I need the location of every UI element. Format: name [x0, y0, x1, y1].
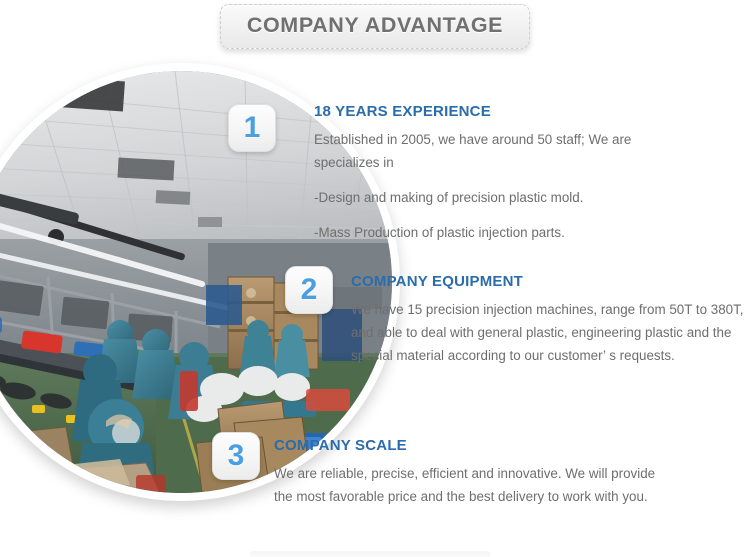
step-number-2: 2 [301, 275, 318, 305]
advantage-paragraph-1-3: -Mass Production of plastic injection pa… [314, 221, 664, 244]
advantage-paragraph-1-2: -Design and making of precision plastic … [314, 186, 664, 209]
step-number-3: 3 [228, 441, 245, 471]
page-title: COMPANY ADVANTAGE [247, 15, 503, 37]
advantage-heading-1: 18 YEARS EXPERIENCE [314, 104, 664, 121]
advantage-block-2-body: COMPANY EQUIPMENT We have 15 precision i… [351, 274, 750, 367]
advantage-heading-2: COMPANY EQUIPMENT [351, 274, 750, 291]
company-advantage-banner: COMPANY ADVANTAGE [220, 4, 530, 49]
advantage-paragraph-1-1: Established in 2005, we have around 50 s… [314, 128, 664, 174]
advantage-paragraph-3-1: We are reliable, precise, efficient and … [274, 462, 660, 508]
advantage-paragraph-2-1: We have 15 precision injection machines,… [351, 298, 750, 367]
step-number-badge-2: 2 [285, 266, 333, 314]
step-number-badge-3: 3 [212, 432, 260, 480]
footer-divider [250, 551, 490, 557]
page-header: COMPANY ADVANTAGE [0, 4, 750, 56]
advantage-block-3-body: COMPANY SCALE We are reliable, precise, … [274, 438, 660, 508]
step-number-1: 1 [244, 113, 261, 143]
advantage-heading-3: COMPANY SCALE [274, 438, 660, 455]
advantage-block-1-body: 18 YEARS EXPERIENCE Established in 2005,… [314, 104, 664, 244]
step-number-badge-1: 1 [228, 104, 276, 152]
